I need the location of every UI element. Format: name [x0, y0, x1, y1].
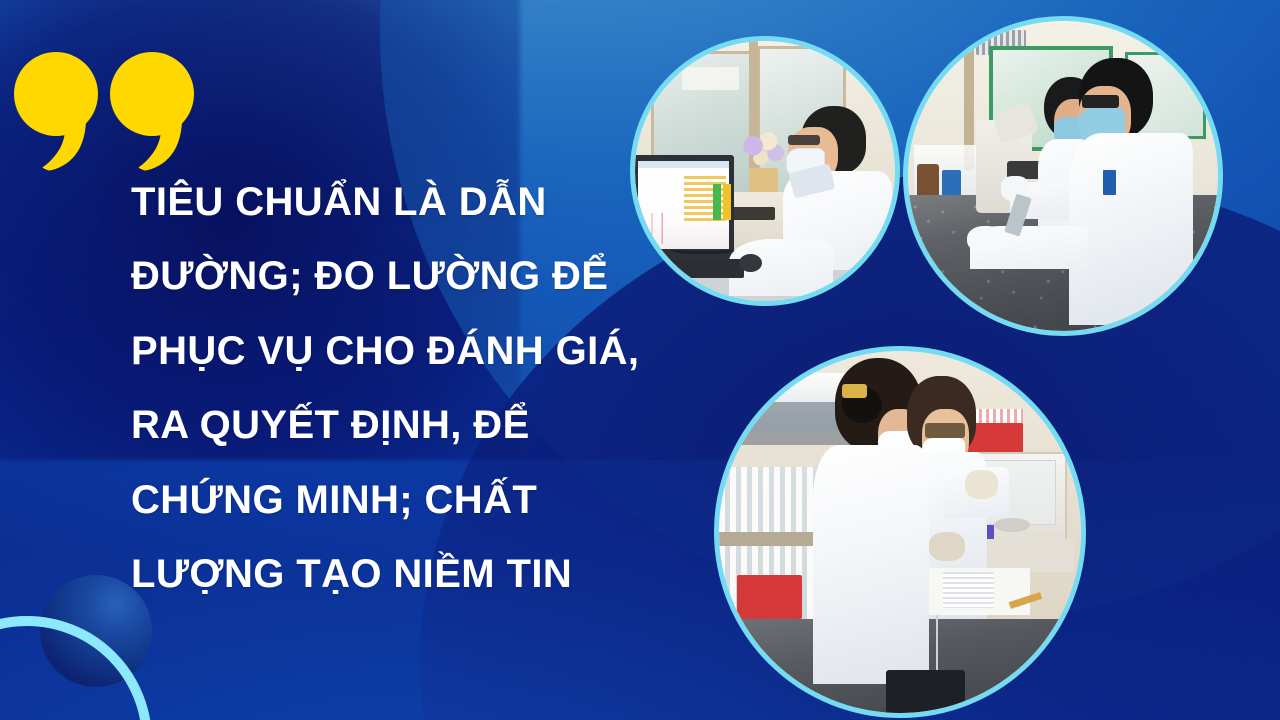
quote-text-block: TIÊU CHUẨN LÀ DẪN ĐƯỜNG; ĐO LƯỜNG ĐỂ PHỤ… [131, 165, 691, 611]
scene-screen-toolbar [638, 161, 729, 169]
photo-lab-balance [714, 346, 1086, 718]
double-quote-icon [14, 52, 199, 174]
quote-line: ĐƯỜNG; ĐO LƯỜNG ĐỂ [131, 239, 691, 313]
scene-person-glasses [1082, 95, 1119, 107]
scene-person-glasses [788, 135, 819, 145]
scene-blue-container [942, 170, 961, 198]
scene-cable [671, 244, 733, 254]
photo-lab-computer-image [635, 41, 895, 301]
banner-stage: TIÊU CHUẨN LÀ DẪN ĐƯỜNG; ĐO LƯỜNG ĐỂ PHỤ… [0, 0, 1280, 720]
scene-vase [749, 168, 778, 194]
quote-mark-right-icon [110, 52, 194, 174]
quote-line: TIÊU CHUẨN LÀ DẪN [131, 165, 691, 239]
photo-lab-balance-image [719, 351, 1081, 713]
scene-hair-clip [842, 384, 867, 398]
quote-mark-left-icon [14, 52, 98, 174]
photo-lab-computer [630, 36, 900, 306]
scene-instrument-slot [729, 207, 776, 220]
scene-coat-logo [1103, 170, 1115, 195]
scene-person-glove [967, 226, 1004, 254]
scene-screen-green-bar [713, 184, 721, 220]
quote-line: PHỤC VỤ CHO ĐÁNH GIÁ, [131, 314, 691, 388]
quote-line: RA QUYẾT ĐỊNH, ĐỂ [131, 388, 691, 462]
scene-person-glove [965, 470, 998, 499]
scene-person-glasses [925, 423, 965, 437]
scene-person-lab-coat [813, 445, 929, 684]
quote-line: LƯỢNG TẠO NIỀM TIN [131, 537, 691, 611]
scene-tablet-device [886, 670, 966, 713]
scene-keyboard [661, 259, 744, 277]
scene-ceiling-light [682, 67, 739, 90]
scene-screen-yellow-bar [723, 184, 731, 220]
quote-line: CHỨNG MINH; CHẤT [131, 463, 691, 537]
scene-flower-bouquet [739, 127, 786, 174]
scene-screen-chromatogram [643, 213, 679, 244]
scene-red-basket [737, 575, 802, 618]
scene-balance-pan [994, 518, 1030, 532]
photo-lab-microscope-image [908, 21, 1218, 331]
scene-record-sheet-lines [943, 572, 994, 608]
scene-person-glove [929, 532, 965, 561]
photo-lab-microscope [903, 16, 1223, 336]
